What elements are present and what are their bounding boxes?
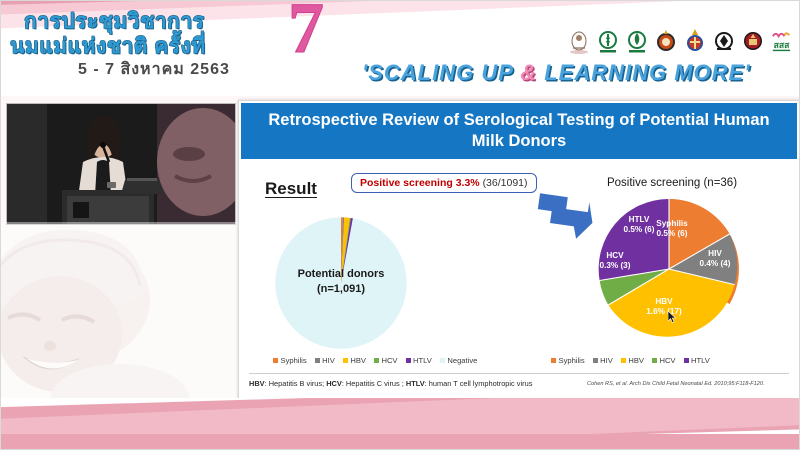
legend-item-negative: Negative — [440, 356, 477, 365]
tagline-part-2: LEARNING MORE' — [537, 60, 750, 85]
potential-donors-label-line1: Potential donors — [261, 267, 421, 282]
slide-viewer: การประชุมวิชาการ นมแม่แห่งชาติ ครั้งที่ … — [0, 0, 800, 450]
potential-donors-legend: Syphilis HIV HBV HCV HTLV Negative — [273, 356, 477, 365]
legend-label-hbv: HBV — [350, 356, 366, 365]
legend2-swatch-syphilis — [551, 358, 556, 363]
potential-donors-label-line2: (n=1,091) — [261, 282, 421, 297]
legend2-item-hiv: HIV — [593, 356, 613, 365]
potential-donors-center-label: Potential donors (n=1,091) — [261, 267, 421, 297]
result-heading: Result — [265, 179, 317, 199]
abbreviations-footnote: HBV: Hepatitis B virus; HCV: Hepatitis C… — [249, 379, 532, 388]
conference-edition-number: 7 — [288, 0, 324, 64]
svg-text:สสส: สสส — [774, 41, 791, 51]
royal-seal-logo — [566, 28, 591, 56]
legend2-item-hbv: HBV — [621, 356, 644, 365]
legend-item-hcv: HCV — [374, 356, 398, 365]
footnote-text-hbv: : Hepatitis B virus; — [265, 379, 327, 388]
department-health-logo — [624, 28, 649, 56]
legend-label-hiv: HIV — [322, 356, 335, 365]
legend2-label-hcv: HCV — [659, 356, 675, 365]
legend2-item-hcv: HCV — [652, 356, 676, 365]
legend-label-htlv: HTLV — [413, 356, 432, 365]
reference-citation: Cohen RS, et al. Arch Dis Child Fetal Ne… — [587, 381, 765, 387]
positive-screening-legend: Syphilis HIV HBV HCV HTLV — [551, 356, 710, 365]
blue-right-down-arrow — [535, 193, 595, 241]
legend2-swatch-htlv — [684, 358, 689, 363]
slide-title: Retrospective Review of Serological Test… — [241, 103, 797, 159]
legend-swatch-hbv — [343, 358, 348, 363]
legend2-item-syphilis: Syphilis — [551, 356, 585, 365]
footer-solid-strip — [0, 434, 800, 450]
callout-fraction-text: (36/1091) — [483, 177, 528, 189]
conference-dates: 5 - 7 สิงหาคม 2563 — [78, 57, 230, 82]
legend2-swatch-hiv — [593, 358, 598, 363]
footnote-text-htlv: : human T cell lymphotropic virus — [425, 379, 533, 388]
medical-association-logo — [740, 28, 765, 56]
legend-item-htlv: HTLV — [406, 356, 432, 365]
legend-swatch-hiv — [315, 358, 320, 363]
legend-swatch-negative — [440, 358, 445, 363]
legend-label-syphilis: Syphilis — [281, 356, 307, 365]
legend2-label-syphilis: Syphilis — [559, 356, 585, 365]
positive-screening-chart-title: Positive screening (n=36) — [557, 177, 787, 189]
ministry-public-health-logo — [595, 28, 620, 56]
presentation-slide: Retrospective Review of Serological Test… — [238, 100, 800, 404]
slide-divider — [249, 373, 789, 374]
positive-screening-pie — [593, 197, 753, 347]
legend-swatch-syphilis — [273, 358, 278, 363]
legend-label-hcv: HCV — [381, 356, 397, 365]
legend-item-hbv: HBV — [343, 356, 366, 365]
thai-pediatric-society-logo — [653, 28, 678, 56]
positive-screening-callout: Positive screening 3.3% (36/1091) — [351, 173, 537, 193]
legend2-swatch-hcv — [652, 358, 657, 363]
tagline-ampersand: & — [520, 60, 537, 85]
legend2-label-hiv: HIV — [600, 356, 613, 365]
legend2-swatch-hbv — [621, 358, 626, 363]
tagline-part-1: 'SCALING UP — [362, 60, 520, 85]
legend-label-negative: Negative — [447, 356, 477, 365]
footnote-text-hcv: : Hepatitis C virus ; — [342, 379, 406, 388]
nursing-council-logo — [711, 28, 736, 56]
thaihealth-sss-logo: สสส — [769, 28, 794, 56]
legend-swatch-hcv — [374, 358, 379, 363]
footnote-bold-hbv: HBV — [249, 379, 265, 388]
sponsor-logos-row: สสส — [566, 26, 798, 58]
legend2-item-htlv: HTLV — [684, 356, 710, 365]
legend-swatch-htlv — [406, 358, 411, 363]
footnote-bold-htlv: HTLV — [406, 379, 425, 388]
callout-highlight-text: Positive screening 3.3% — [360, 177, 480, 189]
conference-tagline: 'SCALING UP & LEARNING MORE' — [362, 60, 750, 86]
royal-college-logo — [682, 28, 707, 56]
footnote-bold-hcv: HCV — [326, 379, 342, 388]
legend-item-syphilis: Syphilis — [273, 356, 307, 365]
legend2-label-htlv: HTLV — [691, 356, 710, 365]
legend2-label-hbv: HBV — [628, 356, 644, 365]
footer-banner — [0, 398, 800, 450]
mouse-cursor-icon — [668, 311, 677, 324]
conference-header-banner: การประชุมวิชาการ นมแม่แห่งชาติ ครั้งที่ … — [0, 0, 800, 96]
legend-item-hiv: HIV — [315, 356, 335, 365]
speaker-presentation-video[interactable] — [6, 103, 236, 225]
